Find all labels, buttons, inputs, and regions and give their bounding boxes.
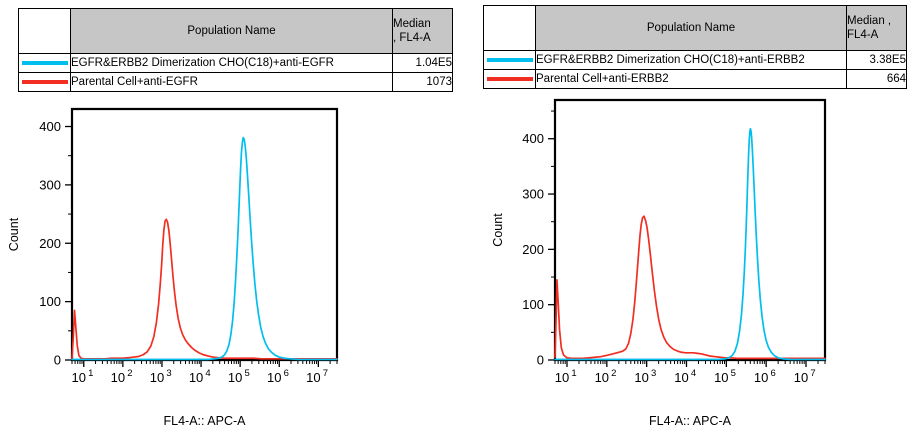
table-row[interactable]: Parental Cell+anti-EGFR 1073 bbox=[19, 73, 453, 92]
y-tick-label: 300 bbox=[522, 187, 544, 202]
y-tick-label: 400 bbox=[522, 131, 544, 146]
x-tick-label-mantissa: 10 bbox=[72, 370, 86, 385]
x-tick-label: 107 bbox=[306, 368, 328, 385]
color-swatch-red bbox=[22, 80, 68, 84]
legend-swatch-cell bbox=[484, 70, 536, 89]
x-tick-label: 103 bbox=[150, 368, 172, 385]
table-row[interactable]: EGFR&ERBB2 Dimerization CHO(C18)+anti-EG… bbox=[19, 54, 453, 73]
histogram-curve bbox=[72, 138, 337, 360]
table-row[interactable]: Parental Cell+anti-ERBB2 664 bbox=[484, 70, 907, 89]
x-tick-label-mantissa: 10 bbox=[794, 370, 808, 385]
legend-table-left: Population Name Median , FL4-A EGFR&ERBB… bbox=[18, 8, 453, 92]
legend-header-median-line2: FL4-A bbox=[847, 28, 906, 42]
x-tick-label-mantissa: 10 bbox=[555, 370, 569, 385]
legend-header-swatch bbox=[484, 6, 536, 51]
x-axis-title: FL4-A:: APC-A bbox=[164, 414, 247, 428]
x-tick-label-exponent: 3 bbox=[651, 368, 656, 379]
panel-left: Population Name Median , FL4-A EGFR&ERBB… bbox=[0, 0, 458, 443]
color-swatch-cyan bbox=[487, 58, 533, 62]
x-tick-label-exponent: 5 bbox=[731, 368, 736, 379]
x-tick-label: 105 bbox=[714, 368, 736, 385]
x-tick-label: 101 bbox=[555, 368, 577, 385]
legend-header-median-line2: , FL4-A bbox=[393, 31, 452, 45]
x-tick-label-exponent: 4 bbox=[691, 368, 696, 379]
y-axis-title: Count bbox=[491, 213, 505, 247]
x-tick-label-exponent: 2 bbox=[611, 368, 616, 379]
legend-header-median: Median , FL4-A bbox=[847, 6, 907, 51]
color-swatch-cyan bbox=[22, 61, 68, 65]
y-tick-label: 100 bbox=[39, 294, 61, 309]
x-tick-label-mantissa: 10 bbox=[306, 370, 320, 385]
legend-swatch-cell bbox=[19, 54, 71, 73]
table-row[interactable]: EGFR&ERBB2 Dimerization CHO(C18)+anti-ER… bbox=[484, 51, 907, 70]
x-tick-label-exponent: 1 bbox=[88, 368, 93, 379]
x-tick-label-exponent: 3 bbox=[166, 368, 171, 379]
histogram-svg-right: 0100200300400101102103104105106107FL4-A:… bbox=[458, 95, 916, 443]
legend-header-population-name: Population Name bbox=[536, 6, 847, 51]
histogram-plot-right: 0100200300400101102103104105106107FL4-A:… bbox=[458, 95, 916, 443]
x-tick-label-exponent: 6 bbox=[284, 368, 289, 379]
legend-header-median: Median , FL4-A bbox=[393, 9, 453, 54]
legend-swatch-cell bbox=[484, 51, 536, 70]
legend-header-row: Population Name Median , FL4-A bbox=[19, 9, 453, 54]
x-tick-label: 104 bbox=[674, 368, 696, 385]
population-name-cell: EGFR&ERBB2 Dimerization CHO(C18)+anti-ER… bbox=[536, 51, 847, 70]
legend-header-median-line1: Median , bbox=[847, 14, 906, 28]
median-value-cell: 3.38E5 bbox=[847, 51, 907, 70]
x-tick-label-mantissa: 10 bbox=[189, 370, 203, 385]
x-tick-label: 107 bbox=[794, 368, 816, 385]
x-tick-label: 102 bbox=[111, 368, 133, 385]
legend-header-population-name: Population Name bbox=[71, 9, 393, 54]
legend-header-median-line1: Median bbox=[393, 17, 452, 31]
median-value-cell: 1.04E5 bbox=[393, 54, 453, 73]
x-tick-label-mantissa: 10 bbox=[634, 370, 648, 385]
x-tick-label-exponent: 2 bbox=[127, 368, 132, 379]
x-tick-label-mantissa: 10 bbox=[267, 370, 281, 385]
x-tick-label-exponent: 5 bbox=[245, 368, 250, 379]
panel-right: Population Name Median , FL4-A EGFR&ERBB… bbox=[458, 0, 916, 443]
legend-header-swatch bbox=[19, 9, 71, 54]
y-tick-label: 300 bbox=[39, 177, 61, 192]
x-tick-label-exponent: 4 bbox=[205, 368, 210, 379]
x-tick-label-mantissa: 10 bbox=[714, 370, 728, 385]
x-tick-label: 105 bbox=[228, 368, 250, 385]
x-tick-label-exponent: 7 bbox=[810, 368, 815, 379]
y-tick-label: 200 bbox=[522, 242, 544, 257]
y-tick-label: 200 bbox=[39, 236, 61, 251]
median-value-cell: 664 bbox=[847, 70, 907, 89]
x-tick-label-exponent: 6 bbox=[771, 368, 776, 379]
legend-swatch-cell bbox=[19, 73, 71, 92]
x-tick-label-mantissa: 10 bbox=[111, 370, 125, 385]
x-tick-label-exponent: 7 bbox=[323, 368, 328, 379]
x-tick-label-exponent: 1 bbox=[571, 368, 576, 379]
x-tick-label: 104 bbox=[189, 368, 211, 385]
x-tick-label-mantissa: 10 bbox=[674, 370, 688, 385]
x-tick-label: 106 bbox=[267, 368, 289, 385]
legend-table-right: Population Name Median , FL4-A EGFR&ERBB… bbox=[483, 5, 907, 89]
histogram-curve bbox=[555, 216, 825, 358]
population-name-cell: Parental Cell+anti-ERBB2 bbox=[536, 70, 847, 89]
legend-header-row: Population Name Median , FL4-A bbox=[484, 6, 907, 51]
histogram-curve bbox=[555, 129, 825, 360]
y-tick-label: 0 bbox=[537, 353, 544, 368]
plot-frame bbox=[72, 109, 337, 360]
x-tick-label-mantissa: 10 bbox=[754, 370, 768, 385]
population-name-cell: EGFR&ERBB2 Dimerization CHO(C18)+anti-EG… bbox=[71, 54, 393, 73]
population-name-cell: Parental Cell+anti-EGFR bbox=[71, 73, 393, 92]
y-tick-label: 0 bbox=[54, 353, 61, 368]
x-tick-label: 103 bbox=[634, 368, 656, 385]
y-axis-title: Count bbox=[7, 217, 21, 251]
x-tick-label-mantissa: 10 bbox=[150, 370, 164, 385]
x-tick-label: 102 bbox=[595, 368, 617, 385]
plot-frame bbox=[555, 100, 825, 360]
color-swatch-red bbox=[487, 77, 533, 81]
x-tick-label-mantissa: 10 bbox=[595, 370, 609, 385]
x-axis-title: FL4-A:: APC-A bbox=[649, 414, 732, 428]
histogram-svg-left: 0100200300400101102103104105106107FL4-A:… bbox=[0, 100, 458, 443]
x-tick-label: 101 bbox=[72, 368, 94, 385]
histogram-plot-left: 0100200300400101102103104105106107FL4-A:… bbox=[0, 100, 458, 443]
y-tick-label: 400 bbox=[39, 119, 61, 134]
median-value-cell: 1073 bbox=[393, 73, 453, 92]
y-tick-label: 100 bbox=[522, 297, 544, 312]
x-tick-label-mantissa: 10 bbox=[228, 370, 242, 385]
histogram-curve bbox=[72, 219, 337, 359]
x-tick-label: 106 bbox=[754, 368, 776, 385]
